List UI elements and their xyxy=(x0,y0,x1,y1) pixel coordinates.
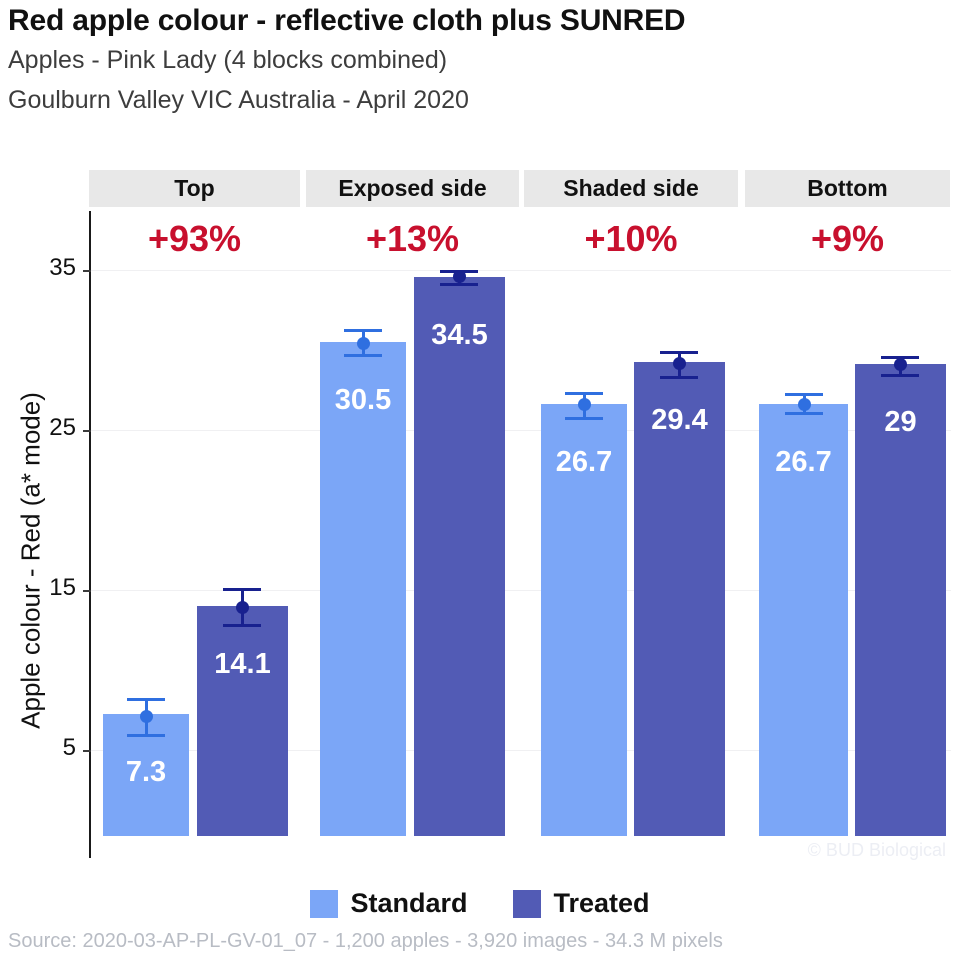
facet-strip-label: Bottom xyxy=(807,175,887,202)
error-bar-cap-lower xyxy=(785,412,823,415)
y-axis-title: Apple colour - Red (a* mode) xyxy=(16,251,47,871)
gridline xyxy=(91,270,951,271)
mean-point-marker xyxy=(453,270,466,283)
watermark: © BUD Biological xyxy=(808,840,946,861)
legend-item-standard[interactable]: Standard xyxy=(310,888,467,919)
bar-value-label: 30.5 xyxy=(320,384,406,417)
bar-treated[interactable] xyxy=(414,277,505,836)
error-bar-cap-lower xyxy=(440,283,478,286)
plot-area: Apple colour - Red (a* mode) 3525155 Top… xyxy=(0,0,960,960)
error-bar-cap-upper xyxy=(344,329,382,332)
source-caption: Source: 2020-03-AP-PL-GV-01_07 - 1,200 a… xyxy=(8,930,723,953)
facet-strip-label: Shaded side xyxy=(563,175,698,202)
facet-strip-label: Exposed side xyxy=(338,175,486,202)
y-tick-label: 15 xyxy=(14,574,76,602)
bar-value-label: 29 xyxy=(855,406,946,439)
error-bar-cap-lower xyxy=(127,734,165,737)
y-tick-label: 5 xyxy=(14,734,76,762)
mean-point-marker xyxy=(236,601,249,614)
y-tick-mark xyxy=(83,750,91,752)
y-tick-mark xyxy=(83,270,91,272)
y-tick-mark xyxy=(83,590,91,592)
mean-point-marker xyxy=(673,357,686,370)
facet-strip-top: Top xyxy=(89,170,300,207)
mean-point-marker xyxy=(894,358,907,371)
facet-strip-label: Top xyxy=(174,175,214,202)
y-tick-label: 25 xyxy=(14,414,76,442)
bar-value-label: 29.4 xyxy=(634,404,725,437)
bar-value-label: 26.7 xyxy=(541,446,627,479)
error-bar-cap-upper xyxy=(127,698,165,701)
error-bar-cap-upper xyxy=(660,351,698,354)
chart-page: Red apple colour - reflective cloth plus… xyxy=(0,0,960,960)
y-axis-line xyxy=(89,211,91,858)
error-bar-cap-upper xyxy=(223,588,261,591)
percent-change-bottom: +9% xyxy=(745,216,950,262)
bar-treated[interactable] xyxy=(197,606,288,836)
mean-point-marker xyxy=(357,337,370,350)
bar-value-label: 7.3 xyxy=(103,756,189,789)
bar-value-label: 14.1 xyxy=(197,648,288,681)
facet-strip-bottom: Bottom xyxy=(745,170,950,207)
mean-point-marker xyxy=(578,398,591,411)
percent-change-top: +93% xyxy=(89,216,300,262)
percent-change-exposed-side: +13% xyxy=(306,216,519,262)
y-tick-label: 35 xyxy=(14,254,76,282)
error-bar-cap-lower xyxy=(565,417,603,420)
facet-strip-exposed-side: Exposed side xyxy=(306,170,519,207)
bar-value-label: 26.7 xyxy=(759,446,848,479)
error-bar-cap-lower xyxy=(881,374,919,377)
legend-swatch-standard xyxy=(310,890,338,918)
legend-swatch-treated xyxy=(513,890,541,918)
legend-label-treated: Treated xyxy=(553,888,649,919)
error-bar-cap-lower xyxy=(660,376,698,379)
legend-item-treated[interactable]: Treated xyxy=(513,888,649,919)
bar-value-label: 34.5 xyxy=(414,319,505,352)
error-bar-cap-upper xyxy=(785,393,823,396)
legend-label-standard: Standard xyxy=(350,888,467,919)
percent-change-shaded-side: +10% xyxy=(524,216,738,262)
y-tick-mark xyxy=(83,430,91,432)
mean-point-marker xyxy=(140,710,153,723)
error-bar-cap-upper xyxy=(565,392,603,395)
error-bar-cap-lower xyxy=(223,624,261,627)
mean-point-marker xyxy=(798,398,811,411)
error-bar-cap-lower xyxy=(344,354,382,357)
facet-strip-shaded-side: Shaded side xyxy=(524,170,738,207)
legend: Standard Treated xyxy=(0,888,960,919)
